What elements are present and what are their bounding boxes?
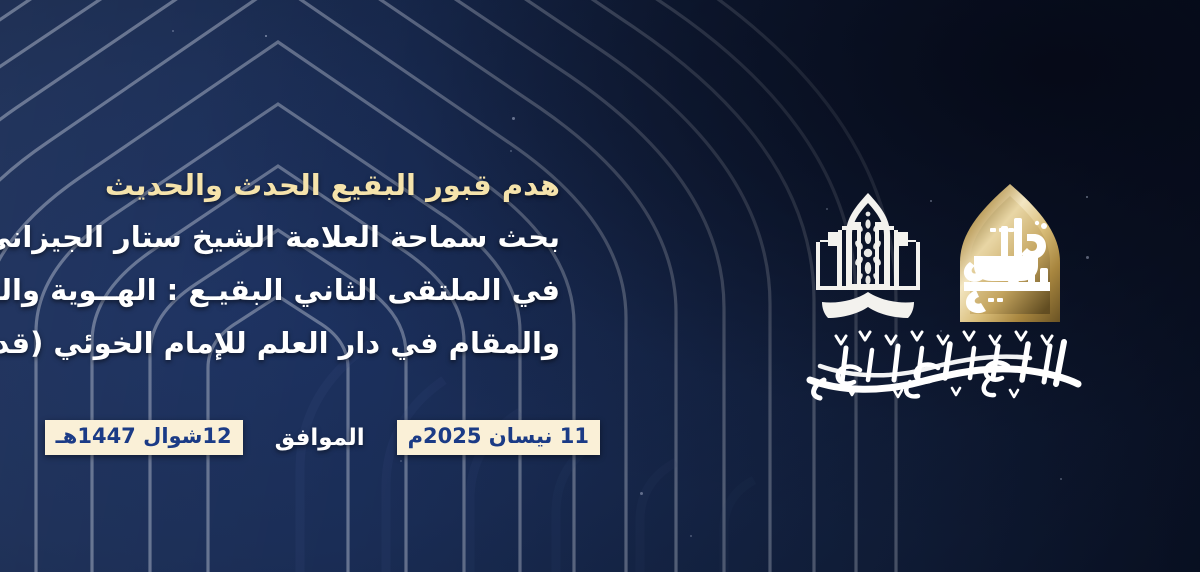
wordmark-calligraphy-icon (802, 322, 1087, 402)
hijri-date-badge: 12شوال 1447هـ (45, 420, 243, 455)
gregorian-date-badge: 11 نيسان 2025م (397, 420, 600, 455)
headline-line-2: بحث سماحة العلامة الشيخ ستار الجيزاني (د… (0, 220, 560, 254)
date-conjunction-label: الموافق (261, 425, 379, 451)
headline-line-1: هدم قبور البقيع الحدث والحديث (105, 168, 560, 202)
logo-lockup (800, 182, 1090, 407)
headline-line-4: والمقام في دار العلم للإمام الخوئي (قدس … (0, 326, 560, 360)
date-row: 11 نيسان 2025م الموافق 12شوال 1447هـ (45, 420, 600, 455)
event-banner: هدم قبور البقيع الحدث والحديث بحث سماحة … (0, 0, 1200, 572)
gold-mihrab-arch-icon (948, 182, 1073, 330)
headline-line-3: في الملتقى الثاني البقيـع : الهــوية وال… (0, 273, 560, 307)
mosque-mihrab-book-emblem-icon (808, 190, 928, 320)
